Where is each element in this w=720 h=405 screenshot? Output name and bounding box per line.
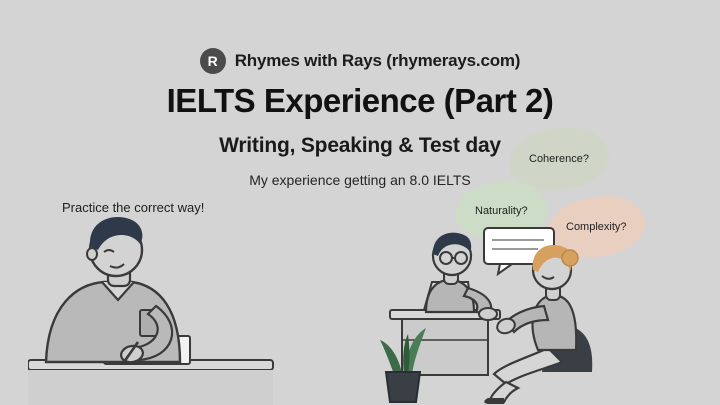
brand-logo-icon: R	[200, 48, 226, 74]
page-tagline: My experience getting an 8.0 IELTS	[0, 172, 720, 188]
blob-naturality-label: Naturality?	[475, 205, 528, 217]
blob-coherence-label: Coherence?	[529, 153, 589, 165]
brand-row: R Rhymes with Rays (rhymerays.com)	[0, 48, 720, 74]
brand-name: Rhymes with Rays (rhymerays.com)	[235, 51, 521, 71]
page-title: IELTS Experience (Part 2)	[0, 82, 720, 120]
person-writing-at-desk-illustration	[28, 210, 288, 405]
two-people-interview-illustration	[372, 222, 644, 405]
page-subtitle: Writing, Speaking & Test day	[0, 134, 720, 158]
slide-canvas: R Rhymes with Rays (rhymerays.com) IELTS…	[0, 0, 720, 405]
